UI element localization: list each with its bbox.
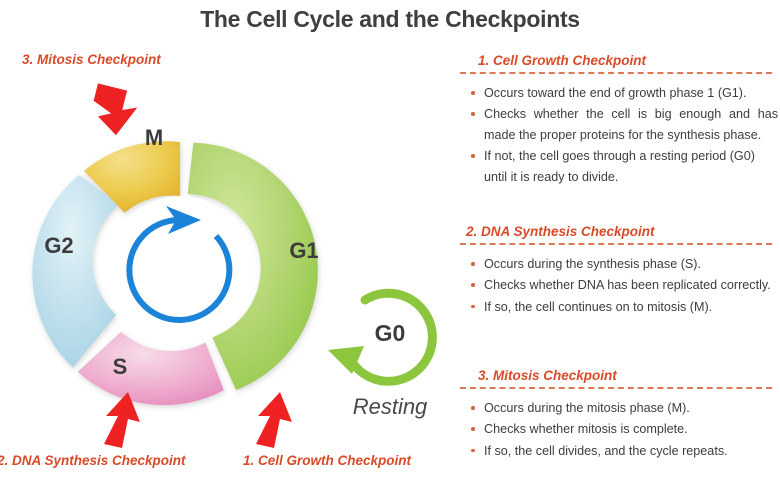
section-divider [460,72,772,74]
section-cell-growth-checkpoint: 1. Cell Growth Checkpoint Occurs toward … [452,53,780,188]
cell-cycle-diagram: M G1 S G2 G0 Resting 3. Mitosis Checkpoi… [0,40,450,478]
bullet-list: Occurs during the mitosis phase (M). Che… [452,398,780,461]
checkpoint-descriptions: 1. Cell Growth Checkpoint Occurs toward … [452,0,780,478]
callout-dna-synthesis-checkpoint: 2. DNA Synthesis Checkpoint [0,453,186,468]
section-dna-synthesis-checkpoint: 2. DNA Synthesis Checkpoint Occurs durin… [452,224,780,318]
list-item: Occurs during the synthesis phase (S). [470,254,778,274]
bullet-list: Occurs during the synthesis phase (S). C… [452,254,780,317]
callout-mitosis-checkpoint: 3. Mitosis Checkpoint [22,52,161,67]
arrow-mitosis-checkpoint [87,83,141,138]
list-item: If not, the cell goes through a resting … [470,146,778,187]
section-heading: 1. Cell Growth Checkpoint [452,53,780,68]
callout-cell-growth-checkpoint: 1. Cell Growth Checkpoint [243,453,411,468]
section-heading: 2. DNA Synthesis Checkpoint [452,224,780,239]
list-item: Occurs toward the end of growth phase 1 … [470,83,778,103]
section-divider [460,387,772,389]
list-item: If so, the cell continues on to mitosis … [470,297,778,317]
bullet-list: Occurs toward the end of growth phase 1 … [452,83,780,187]
list-item: If so, the cell divides, and the cycle r… [470,441,778,461]
section-heading: 3. Mitosis Checkpoint [452,368,780,383]
resting-caption: Resting [330,394,450,420]
list-item: Occurs during the mitosis phase (M). [470,398,778,418]
list-item: Checks whether the cell is big enough an… [470,104,778,145]
section-mitosis-checkpoint: 3. Mitosis Checkpoint Occurs during the … [452,368,780,462]
list-item: Checks whether mitosis is complete. [470,419,778,439]
section-divider [460,243,772,245]
segment-s [78,332,224,405]
phase-label-g0: G0 [360,320,420,347]
arrow-growth-checkpoint [256,392,292,448]
list-item: Checks whether DNA has been replicated c… [470,275,778,295]
